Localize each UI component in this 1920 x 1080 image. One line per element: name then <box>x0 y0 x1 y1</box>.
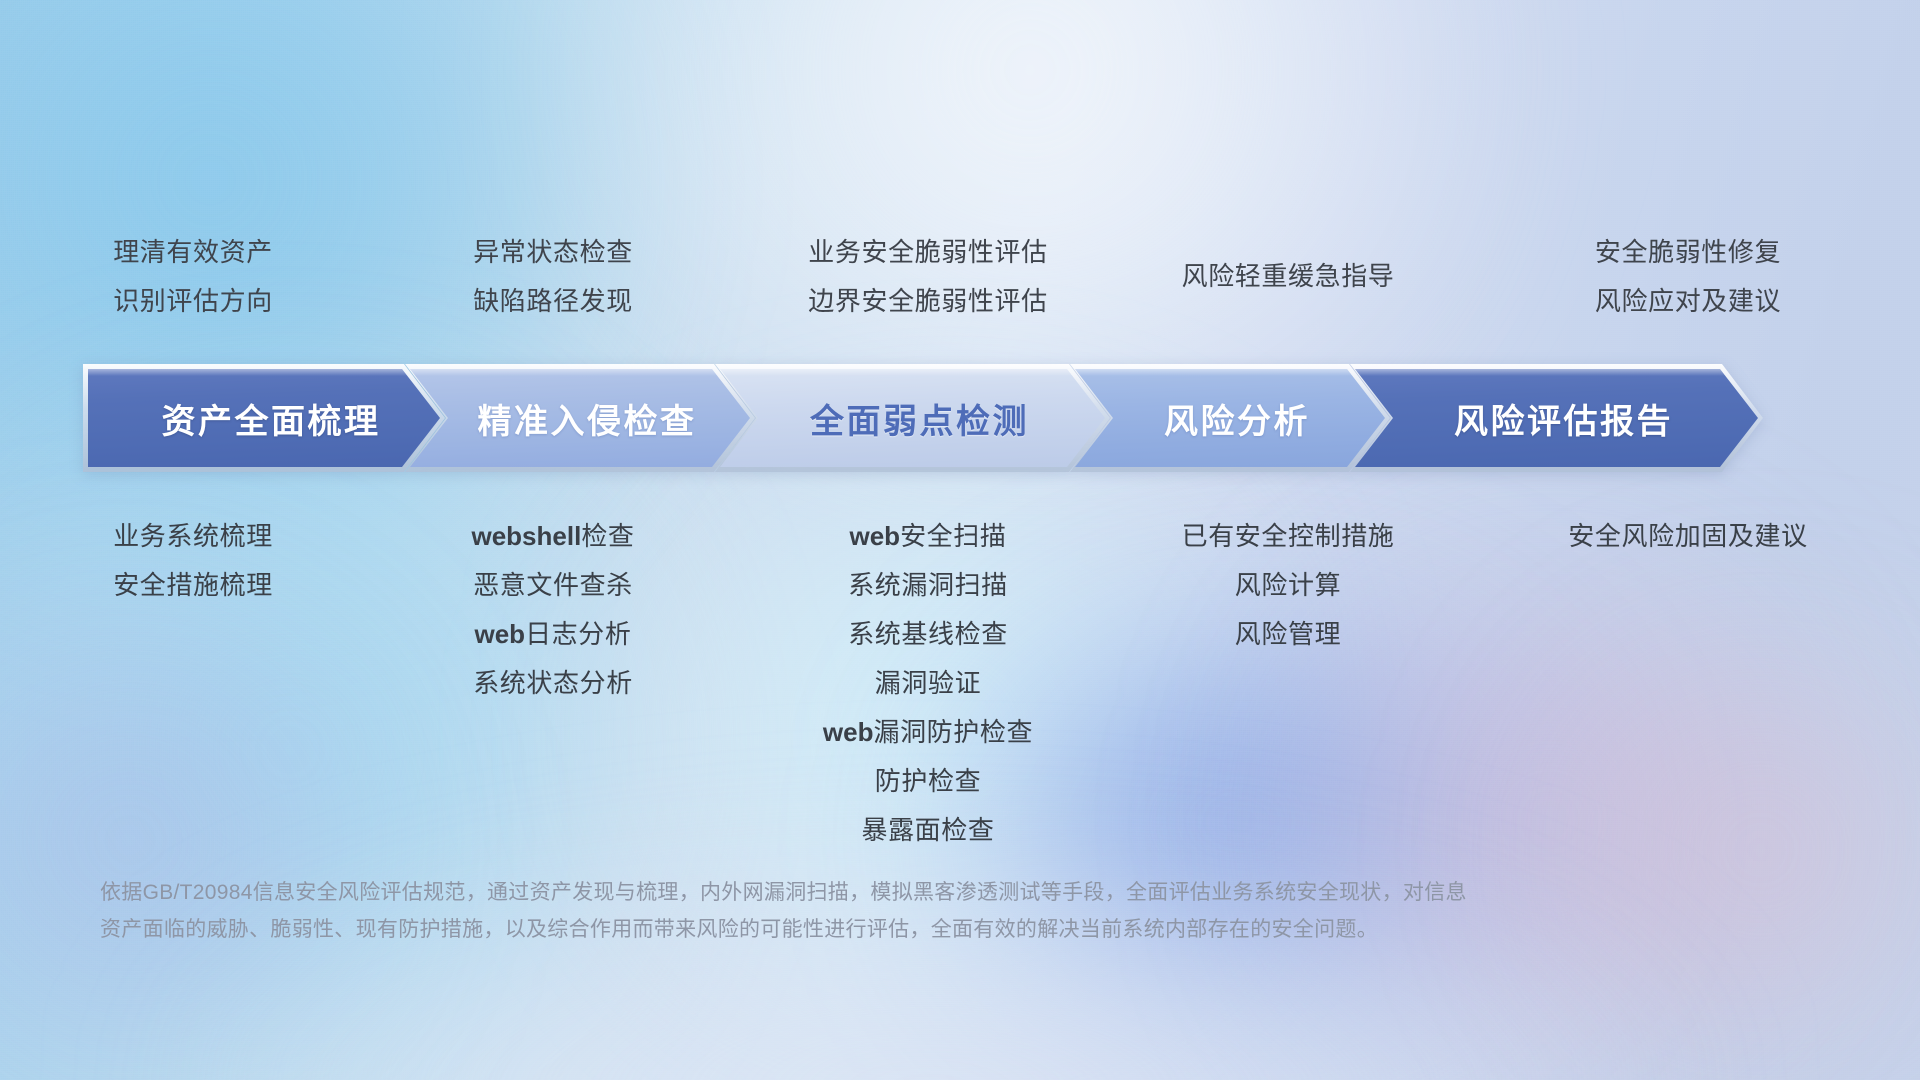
stage-detail-item-prefix: web <box>475 619 526 649</box>
stage-detail-item: 风险计算 <box>1235 561 1341 610</box>
stage-top-label: 理清有效资产 <box>113 228 273 277</box>
process-stage-chevron-assessment-report[interactable]: 风险评估报告 <box>1355 369 1758 467</box>
stage-detail-item: web安全扫描 <box>850 512 1007 561</box>
stage-detail-list-risk-analysis: 已有安全控制措施风险计算风险管理 <box>1128 512 1448 659</box>
stage-detail-lists-row: 业务系统梳理安全措施梳理webshell检查恶意文件查杀web日志分析系统状态分… <box>8 512 1920 855</box>
process-stage-chevron-risk-analysis[interactable]: 风险分析 <box>1075 369 1385 467</box>
stage-detail-item: 已有安全控制措施 <box>1182 512 1395 561</box>
stage-detail-item-text: 恶意文件查杀 <box>473 570 633 600</box>
stage-detail-item: 安全风险加固及建议 <box>1568 512 1807 561</box>
stage-detail-item-text: 风险管理 <box>1235 619 1341 649</box>
stage-top-labels-weakness-detection: 业务安全脆弱性评估边界安全脆弱性评估 <box>728 228 1128 326</box>
stage-detail-list-intrusion-check: webshell检查恶意文件查杀web日志分析系统状态分析 <box>378 512 728 708</box>
stage-detail-item-text: 风险计算 <box>1235 570 1341 600</box>
stage-top-labels-assessment-report: 安全脆弱性修复风险应对及建议 <box>1448 228 1920 326</box>
stage-detail-item-text: 系统状态分析 <box>473 668 633 698</box>
stage-top-labels-intrusion-check: 异常状态检查缺陷路径发现 <box>378 228 728 326</box>
process-stage-chevron-intrusion-check[interactable]: 精准入侵检查 <box>410 369 750 467</box>
stage-detail-item: 漏洞验证 <box>875 659 981 708</box>
stage-detail-item-text: 日志分析 <box>525 619 631 649</box>
stage-detail-item-text: 已有安全控制措施 <box>1182 521 1395 551</box>
stage-detail-item: 业务系统梳理 <box>113 512 273 561</box>
stage-detail-item: 安全措施梳理 <box>113 561 273 610</box>
chevron-label: 风险分析 <box>1150 394 1310 443</box>
stage-detail-item-text: 系统漏洞扫描 <box>848 570 1008 600</box>
stage-detail-list-assessment-report: 安全风险加固及建议 <box>1448 512 1920 561</box>
footer-description: 依据GB/T20984信息安全风险评估规范，通过资产发现与梳理，内外网漏洞扫描，… <box>100 874 1620 948</box>
stage-detail-item: 暴露面检查 <box>861 806 994 855</box>
stage-top-label: 业务安全脆弱性评估 <box>808 228 1047 277</box>
stage-detail-list-weakness-detection: web安全扫描系统漏洞扫描系统基线检查漏洞验证web漏洞防护检查防护检查暴露面检… <box>728 512 1128 855</box>
chevron-label: 风险评估报告 <box>1440 394 1673 443</box>
stage-detail-item-text: 系统基线检查 <box>848 619 1008 649</box>
stage-detail-item-text: 安全措施梳理 <box>113 570 273 600</box>
stage-detail-item: web漏洞防护检查 <box>823 708 1033 757</box>
stage-detail-item: web日志分析 <box>475 610 632 659</box>
stage-detail-item: 风险管理 <box>1235 610 1341 659</box>
stage-detail-item-prefix: web <box>850 521 901 551</box>
process-chevron-band: 资产全面梳理精准入侵检查全面弱点检测风险分析风险评估报告 <box>88 369 1848 467</box>
stage-top-label: 缺陷路径发现 <box>473 277 633 326</box>
stage-top-label: 安全脆弱性修复 <box>1595 228 1781 277</box>
stage-detail-item: 防护检查 <box>875 757 981 806</box>
chevron-label: 资产全面梳理 <box>148 394 381 443</box>
stage-top-label: 异常状态检查 <box>473 228 633 277</box>
stage-detail-item-text: 安全扫描 <box>900 521 1006 551</box>
stage-top-label: 风险应对及建议 <box>1595 277 1781 326</box>
stage-top-label: 风险轻重缓急指导 <box>1182 252 1395 301</box>
stage-detail-item: 系统基线检查 <box>848 610 1008 659</box>
stage-detail-item-prefix: webshell <box>471 521 581 551</box>
stage-detail-item-text: 业务系统梳理 <box>113 521 273 551</box>
stage-detail-item-text: 漏洞防护检查 <box>873 717 1033 747</box>
stage-detail-list-asset-inventory: 业务系统梳理安全措施梳理 <box>8 512 378 610</box>
stage-detail-item: webshell检查 <box>471 512 634 561</box>
stage-detail-item-text: 防护检查 <box>875 766 981 796</box>
stage-detail-item-text: 检查 <box>581 521 634 551</box>
process-stage-chevron-asset-inventory[interactable]: 资产全面梳理 <box>88 369 440 467</box>
chevron-label: 精准入侵检查 <box>464 394 697 443</box>
chevron-label: 全面弱点检测 <box>796 394 1029 443</box>
stage-detail-item-text: 暴露面检查 <box>861 815 994 845</box>
stage-top-label: 边界安全脆弱性评估 <box>808 277 1047 326</box>
stage-top-label: 识别评估方向 <box>113 277 273 326</box>
footer-line-1: 依据GB/T20984信息安全风险评估规范，通过资产发现与梳理，内外网漏洞扫描，… <box>100 874 1620 911</box>
stage-detail-item-prefix: web <box>823 717 874 747</box>
stage-detail-item-text: 漏洞验证 <box>875 668 981 698</box>
stage-detail-item: 系统漏洞扫描 <box>848 561 1008 610</box>
stage-detail-item: 系统状态分析 <box>473 659 633 708</box>
stage-top-labels-asset-inventory: 理清有效资产识别评估方向 <box>8 228 378 326</box>
stage-detail-item: 恶意文件查杀 <box>473 561 633 610</box>
stage-top-labels-row: 理清有效资产识别评估方向异常状态检查缺陷路径发现业务安全脆弱性评估边界安全脆弱性… <box>8 228 1920 326</box>
stage-detail-item-text: 安全风险加固及建议 <box>1568 521 1807 551</box>
footer-line-2: 资产面临的威胁、脆弱性、现有防护措施，以及综合作用而带来风险的可能性进行评估，全… <box>100 911 1620 948</box>
stage-top-labels-risk-analysis: 风险轻重缓急指导 <box>1128 228 1448 326</box>
process-stage-chevron-weakness-detection[interactable]: 全面弱点检测 <box>720 369 1105 467</box>
